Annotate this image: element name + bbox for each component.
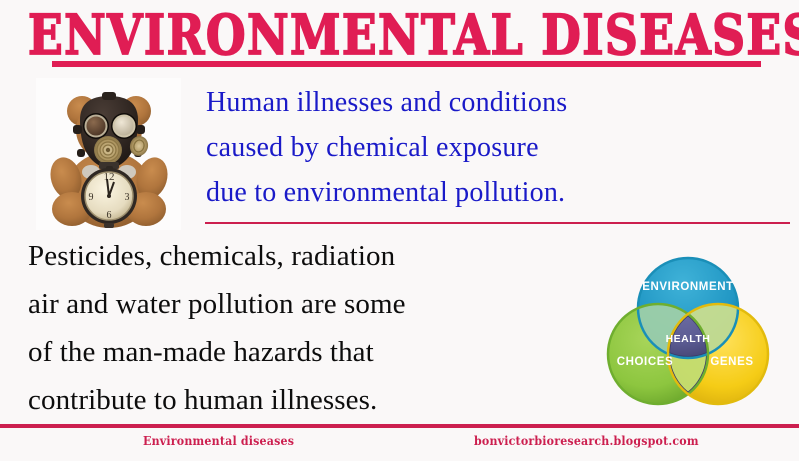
clock-numeral-3: 3 [125,192,130,203]
page-title: ENVIRONMENTAL DISEASES [28,8,771,63]
footer-divider-rule [0,424,799,428]
body-line-4: contribute to human illnesses. [28,376,608,424]
teddy-bear-illustration: 12 3 6 9 [36,78,181,230]
intro-divider-rule [205,222,790,224]
venn-label-health: HEALTH [666,333,711,345]
body-line-3: of the man-made hazards that [28,328,608,376]
body-line-1: Pesticides, chemicals, radiation [28,232,608,280]
health-venn-diagram: ENVIRONMENT CHOICES GENES HEALTH [606,250,770,410]
intro-line-1: Human illnesses and conditions [206,80,786,125]
clock-numeral-9: 9 [89,192,94,203]
title-block: ENVIRONMENTAL DISEASES [0,8,799,57]
footer-caption: Environmental diseases [143,434,294,448]
clock-numeral-12: 12 [104,171,115,183]
gas-mask-teddy-bear-photo: 12 3 6 9 [36,78,181,230]
clock-numeral-6: 6 [107,210,112,221]
body-paragraph: Pesticides, chemicals, radiation air and… [28,232,608,424]
footer-bar: Environmental diseases bonvictorbioresea… [0,431,799,461]
venn-label-choices: CHOICES [617,356,674,368]
venn-svg: ENVIRONMENT CHOICES GENES HEALTH [606,250,770,410]
poster-canvas: ENVIRONMENTAL DISEASES [0,0,799,461]
body-line-2: air and water pollution are some [28,280,608,328]
footer-source-url: bonvictorbioresearch.blogspot.com [474,434,699,448]
title-underline-rule [52,61,761,67]
venn-label-environment: ENVIRONMENT [642,281,734,293]
venn-label-genes: GENES [710,356,753,368]
intro-line-3: due to environmental pollution. [206,170,786,215]
intro-paragraph: Human illnesses and conditions caused by… [206,80,786,215]
intro-line-2: caused by chemical exposure [206,125,786,170]
